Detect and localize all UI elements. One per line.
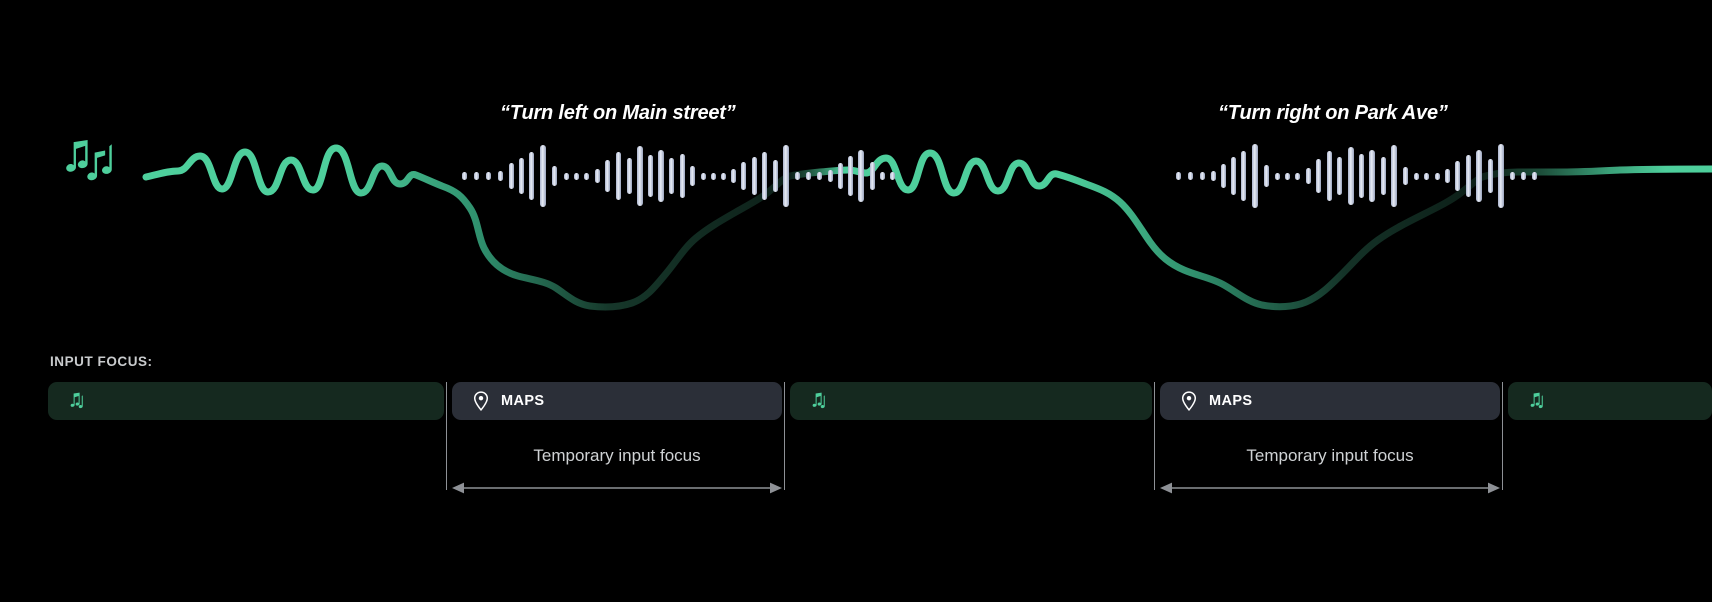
focus-pill-label: MAPS	[1209, 393, 1253, 409]
focus-pill-maps-1[interactable]: MAPS	[452, 382, 782, 420]
location-pin-icon	[472, 391, 490, 411]
focus-segment-maps-1: MAPS Temporary input focus	[452, 382, 782, 602]
double-arrow-icon	[1160, 478, 1500, 498]
music-wave-segment-3	[866, 153, 1482, 307]
focus-pill-music-1[interactable]	[48, 382, 444, 420]
music-note-icon	[66, 140, 112, 180]
waveform-svg	[0, 0, 1712, 340]
voice-prompt-quote-2: “Turn right on Park Ave”	[1218, 102, 1448, 125]
segment-divider-2	[784, 382, 785, 490]
temporary-focus-caption: Temporary input focus	[1160, 446, 1500, 466]
focus-segment-music-3	[1508, 382, 1712, 602]
input-focus-heading: INPUT FOCUS:	[50, 354, 153, 369]
focus-pill-label: MAPS	[501, 393, 545, 409]
double-arrow-icon	[452, 478, 782, 498]
segment-divider-4	[1502, 382, 1503, 490]
music-wave-segment-4	[1482, 169, 1712, 177]
music-note-icon	[810, 391, 830, 411]
waveform-area: “Turn left on Main street” “Turn right o…	[0, 0, 1712, 340]
diagram-canvas: “Turn left on Main street” “Turn right o…	[0, 0, 1712, 602]
temporary-focus-measure-2: Temporary input focus	[1160, 438, 1500, 508]
focus-segment-music-1	[48, 382, 444, 602]
voice-prompt-quote-1: “Turn left on Main street”	[500, 102, 736, 125]
music-note-icon	[68, 391, 88, 411]
segment-divider-3	[1154, 382, 1155, 490]
focus-segment-music-2	[790, 382, 1152, 602]
focus-pill-music-2[interactable]	[790, 382, 1152, 420]
segment-divider-1	[446, 382, 447, 490]
focus-segment-maps-2: MAPS Temporary input focus	[1160, 382, 1500, 602]
input-focus-area: INPUT FOCUS: MAPS Temporar	[0, 340, 1712, 602]
focus-pill-maps-2[interactable]: MAPS	[1160, 382, 1500, 420]
speech-bars-prompt-1	[462, 145, 895, 207]
temporary-focus-caption: Temporary input focus	[452, 446, 782, 466]
temporary-focus-measure-1: Temporary input focus	[452, 438, 782, 508]
location-pin-icon	[1180, 391, 1198, 411]
music-note-icon	[1528, 391, 1548, 411]
focus-pill-music-3[interactable]	[1508, 382, 1712, 420]
